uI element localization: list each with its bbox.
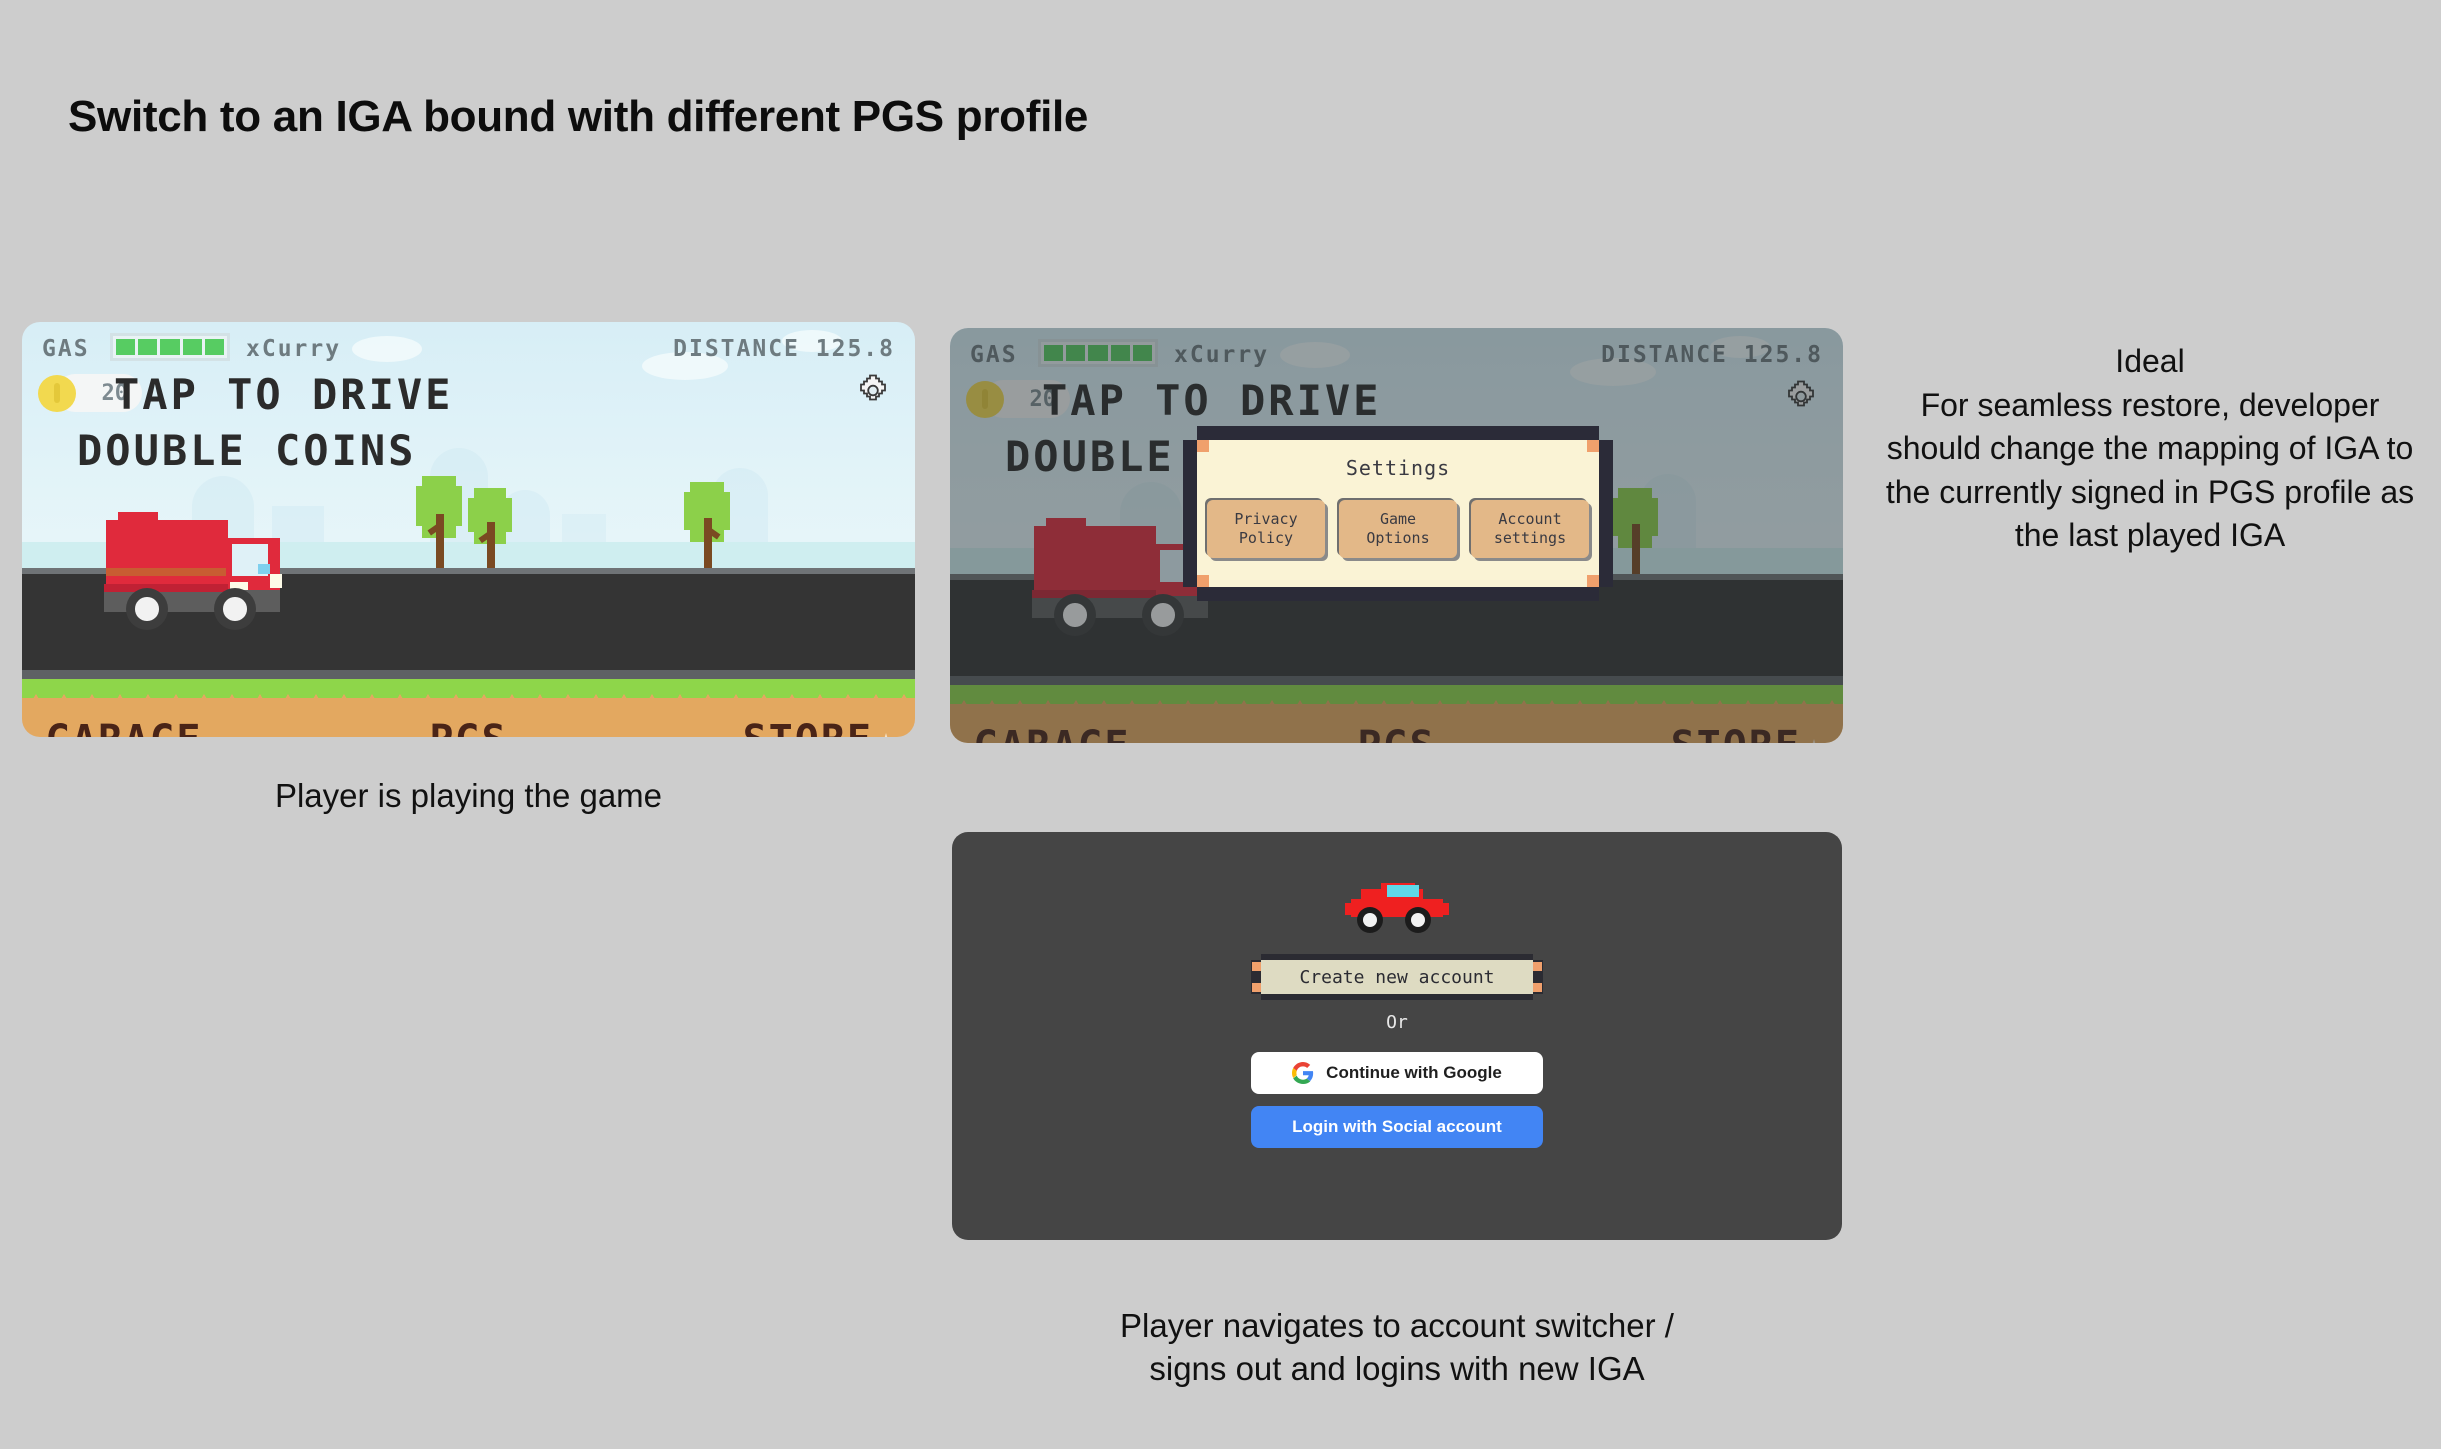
pixel-car-icon — [1343, 877, 1451, 933]
corner-accent — [1587, 575, 1599, 587]
gas-label: GAS — [42, 336, 90, 362]
cloud — [1280, 342, 1350, 368]
dialog-buttons: Privacy Policy Game Options Account sett… — [1207, 500, 1589, 558]
gas-label: GAS — [970, 342, 1018, 368]
game-bottom-nav: GARAGE PGS STORE — [22, 703, 915, 737]
or-separator: Or — [1386, 1012, 1408, 1033]
account-settings-button[interactable]: Account settings — [1471, 500, 1589, 558]
gas-meter — [1038, 339, 1158, 367]
cloud — [352, 336, 422, 362]
truck-sprite — [100, 512, 286, 632]
settings-dialog: Settings Privacy Policy Game Options Acc… — [1183, 426, 1613, 601]
distance-label: DISTANCE 125.8 — [673, 336, 895, 362]
sparkle-icon — [1801, 739, 1827, 743]
tree — [690, 482, 724, 568]
privacy-policy-button[interactable]: Privacy Policy — [1207, 500, 1325, 558]
nav-store[interactable]: STORE — [1671, 723, 1801, 743]
coin-multiplier-label: xCurry — [246, 336, 341, 362]
create-new-account-label: Create new account — [1261, 960, 1533, 994]
page-title: Switch to an IGA bound with different PG… — [68, 92, 1088, 142]
distance-label: DISTANCE 125.8 — [1601, 342, 1823, 368]
nav-garage[interactable]: GARAGE — [46, 717, 203, 737]
account-switcher-screen: Create new account Or Continue with Goog… — [952, 832, 1842, 1240]
coin-multiplier-label: xCurry — [1174, 342, 1269, 368]
game-screen-playing: GAS xCurry DISTANCE 125.8 20 TAP TO DRIV… — [22, 322, 915, 737]
google-g-icon — [1292, 1062, 1314, 1084]
game-options-button[interactable]: Game Options — [1339, 500, 1457, 558]
tree — [422, 476, 456, 568]
gas-meter — [110, 333, 230, 361]
annotation-body: For seamless restore, developer should c… — [1880, 384, 2420, 558]
nav-pgs[interactable]: PGS — [1357, 723, 1435, 743]
gear-icon[interactable] — [1783, 380, 1819, 416]
login-with-social-account-label: Login with Social account — [1292, 1117, 1502, 1137]
coin-icon — [38, 375, 76, 412]
corner-accent — [1197, 575, 1209, 587]
sparkle-icon — [873, 733, 899, 737]
continue-with-google-label: Continue with Google — [1326, 1063, 1502, 1083]
annotation-block: Ideal For seamless restore, developer sh… — [1880, 340, 2420, 558]
login-with-social-account-button[interactable]: Login with Social account — [1251, 1106, 1543, 1148]
coin-icon — [966, 381, 1004, 418]
double-coins-label: DOUBLE COINS — [77, 430, 416, 472]
corner-accent — [1197, 440, 1209, 452]
road-kerb-bottom — [950, 676, 1843, 685]
caption-panel-3: Player navigates to account switcher / s… — [952, 1305, 1842, 1391]
game-bottom-nav: GARAGE PGS STORE — [950, 709, 1843, 743]
road-kerb-bottom — [22, 670, 915, 679]
tap-to-drive-label: TAP TO DRIVE — [1042, 380, 1381, 422]
nav-garage[interactable]: GARAGE — [974, 723, 1131, 743]
tree — [1618, 488, 1652, 574]
nav-pgs[interactable]: PGS — [429, 717, 507, 737]
continue-with-google-button[interactable]: Continue with Google — [1251, 1052, 1543, 1094]
tap-to-drive-label: TAP TO DRIVE — [114, 374, 453, 416]
corner-accent — [1587, 440, 1599, 452]
gear-icon[interactable] — [855, 374, 891, 410]
dialog-title: Settings — [1183, 456, 1613, 480]
create-new-account-button[interactable]: Create new account — [1251, 954, 1543, 1000]
annotation-heading: Ideal — [1880, 340, 2420, 384]
nav-store[interactable]: STORE — [743, 717, 873, 737]
caption-panel-1: Player is playing the game — [22, 775, 915, 818]
tree — [474, 488, 506, 568]
diagram-canvas: Switch to an IGA bound with different PG… — [0, 0, 2441, 1449]
